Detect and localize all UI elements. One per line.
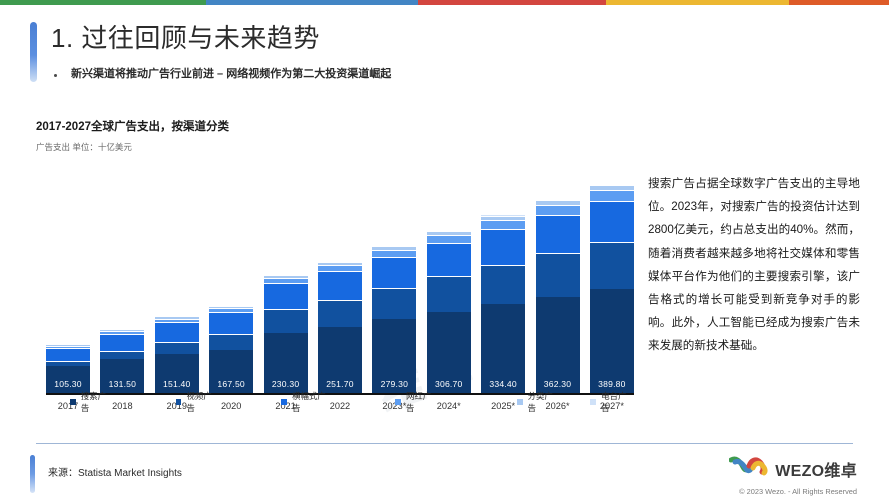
bar-segment[interactable] xyxy=(155,342,199,354)
legend-label: 横幅式广告 xyxy=(292,390,333,414)
legend-label: 电台广告 xyxy=(601,390,634,414)
bar-value-label: 105.30 xyxy=(46,379,90,389)
bar-value-label: 131.50 xyxy=(100,379,144,389)
bar-value-label: 306.70 xyxy=(427,379,471,389)
bar-segment[interactable] xyxy=(536,205,580,215)
bar-segment[interactable] xyxy=(372,257,416,288)
bar-segment[interactable] xyxy=(427,243,471,277)
commentary-text: 搜索广告占据全球数字广告支出的主导地位。2023年，对搜索广告的投资估计达到28… xyxy=(648,172,860,358)
slide-header: 1. 过往回顾与未来趋势 新兴渠道将推动广告行业前进 – 网络视频作为第二大投资… xyxy=(30,22,391,82)
bar-segment[interactable] xyxy=(264,309,308,332)
bar-column[interactable]: 105.30 xyxy=(46,171,90,395)
bar-column[interactable]: 279.30 xyxy=(372,171,416,395)
bar-segment[interactable] xyxy=(372,250,416,257)
legend-swatch-icon xyxy=(70,399,76,405)
bar-segment[interactable]: 389.80 xyxy=(590,289,634,395)
bar-column[interactable]: 306.70 xyxy=(427,171,471,395)
legend-label: 分类广告 xyxy=(528,390,561,414)
chart-subtitle: 广告支出 单位：十亿美元 xyxy=(36,141,636,153)
bar-segment[interactable] xyxy=(590,190,634,201)
legend-item[interactable]: 分类广告 xyxy=(517,390,561,414)
bar-segment[interactable] xyxy=(590,242,634,290)
legend-swatch-icon xyxy=(395,399,401,405)
brand-name: WEZO维卓 xyxy=(775,457,857,481)
bar-segment[interactable]: 362.30 xyxy=(536,297,580,395)
stacked-bars: 105.30131.50151.40167.50230.30251.70279.… xyxy=(46,171,634,395)
top-bar-orange xyxy=(789,0,889,5)
legend-item[interactable]: 视频广告 xyxy=(176,390,220,414)
top-bar-blue xyxy=(206,0,418,5)
bar-value-label: 251.70 xyxy=(318,379,362,389)
legend-item[interactable]: 电台广告 xyxy=(590,390,634,414)
bar-segment[interactable] xyxy=(481,265,525,305)
bar-segment[interactable]: 167.50 xyxy=(209,350,253,395)
legend-swatch-icon xyxy=(590,399,596,405)
chart-title: 2017-2027全球广告支出，按渠道分类 xyxy=(36,118,636,134)
header-accent-bar xyxy=(30,22,37,82)
bar-segment[interactable] xyxy=(100,334,144,351)
bar-value-label: 334.40 xyxy=(481,379,525,389)
chart-panel: 2017-2027全球广告支出，按渠道分类 广告支出 单位：十亿美元 维卓 10… xyxy=(36,118,636,418)
bar-segment[interactable] xyxy=(209,334,253,350)
slide-footer: 来源：Statista Market Insights WEZO维卓 © 202… xyxy=(30,455,860,495)
bar-value-label: 151.40 xyxy=(155,379,199,389)
legend-item[interactable]: 横幅式广告 xyxy=(281,390,333,414)
bar-segment[interactable] xyxy=(372,288,416,319)
top-bar-yellow xyxy=(606,0,789,5)
legend-swatch-icon xyxy=(281,399,287,405)
bullet-dot-icon xyxy=(54,74,57,77)
bar-segment[interactable] xyxy=(155,322,199,342)
bar-segment[interactable] xyxy=(318,300,362,327)
bar-segment[interactable]: 151.40 xyxy=(155,354,199,395)
bar-segment[interactable]: 251.70 xyxy=(318,327,362,395)
header-bullet-text: 新兴渠道将推动广告行业前进 – 网络视频作为第二大投资渠道崛起 xyxy=(71,67,391,82)
header-bullet-row: 新兴渠道将推动广告行业前进 – 网络视频作为第二大投资渠道崛起 xyxy=(51,67,391,82)
bar-segment[interactable] xyxy=(264,283,308,309)
bar-value-label: 230.30 xyxy=(264,379,308,389)
chart-plot-area: 维卓 105.30131.50151.40167.50230.30251.702… xyxy=(46,170,634,415)
legend-swatch-icon xyxy=(517,399,523,405)
copyright-text: © 2023 Wezo. - All Rights Reserved xyxy=(729,487,857,496)
bar-value-label: 362.30 xyxy=(536,379,580,389)
bar-column[interactable]: 151.40 xyxy=(155,171,199,395)
top-bar-red xyxy=(418,0,606,5)
page-title: 1. 过往回顾与未来趋势 xyxy=(51,24,391,54)
bar-segment[interactable]: 306.70 xyxy=(427,312,471,395)
bar-segment[interactable] xyxy=(318,271,362,300)
legend-label: 搜索广告 xyxy=(81,390,114,414)
bar-segment[interactable] xyxy=(209,312,253,334)
legend-label: 网红广告 xyxy=(406,390,439,414)
bar-column[interactable]: 167.50 xyxy=(209,171,253,395)
chart-legend: 搜索广告视频广告横幅式广告网红广告分类广告电台广告 xyxy=(46,390,634,414)
bar-segment[interactable] xyxy=(536,253,580,297)
bar-segment[interactable]: 279.30 xyxy=(372,319,416,395)
bar-segment[interactable] xyxy=(100,351,144,359)
bar-segment[interactable]: 230.30 xyxy=(264,333,308,395)
brand-block: WEZO维卓 © 2023 Wezo. - All Rights Reserve… xyxy=(729,455,857,496)
bar-column[interactable]: 362.30 xyxy=(536,171,580,395)
bar-segment[interactable] xyxy=(536,215,580,253)
bar-segment[interactable] xyxy=(427,276,471,312)
legend-item[interactable]: 网红广告 xyxy=(395,390,439,414)
legend-swatch-icon xyxy=(176,399,182,405)
legend-label: 视频广告 xyxy=(186,390,219,414)
bar-segment[interactable] xyxy=(481,229,525,265)
bar-value-label: 279.30 xyxy=(372,379,416,389)
bar-column[interactable]: 389.80 xyxy=(590,171,634,395)
footer-accent-bar xyxy=(30,455,35,493)
bar-column[interactable]: 230.30 xyxy=(264,171,308,395)
legend-item[interactable]: 搜索广告 xyxy=(70,390,114,414)
bar-segment[interactable] xyxy=(46,348,90,361)
bar-value-label: 389.80 xyxy=(590,379,634,389)
bar-column[interactable]: 131.50 xyxy=(100,171,144,395)
wezo-logo-icon xyxy=(729,455,769,482)
bar-segment[interactable] xyxy=(427,235,471,243)
bar-column[interactable]: 251.70 xyxy=(318,171,362,395)
bar-segment[interactable] xyxy=(590,201,634,242)
bar-value-label: 167.50 xyxy=(209,379,253,389)
footer-divider xyxy=(36,443,853,444)
bar-segment[interactable]: 334.40 xyxy=(481,304,525,395)
top-color-bar xyxy=(0,0,889,5)
top-bar-green xyxy=(0,0,206,5)
bar-segment[interactable] xyxy=(481,220,525,229)
bar-column[interactable]: 334.40 xyxy=(481,171,525,395)
source-note: 来源：Statista Market Insights xyxy=(48,464,182,479)
